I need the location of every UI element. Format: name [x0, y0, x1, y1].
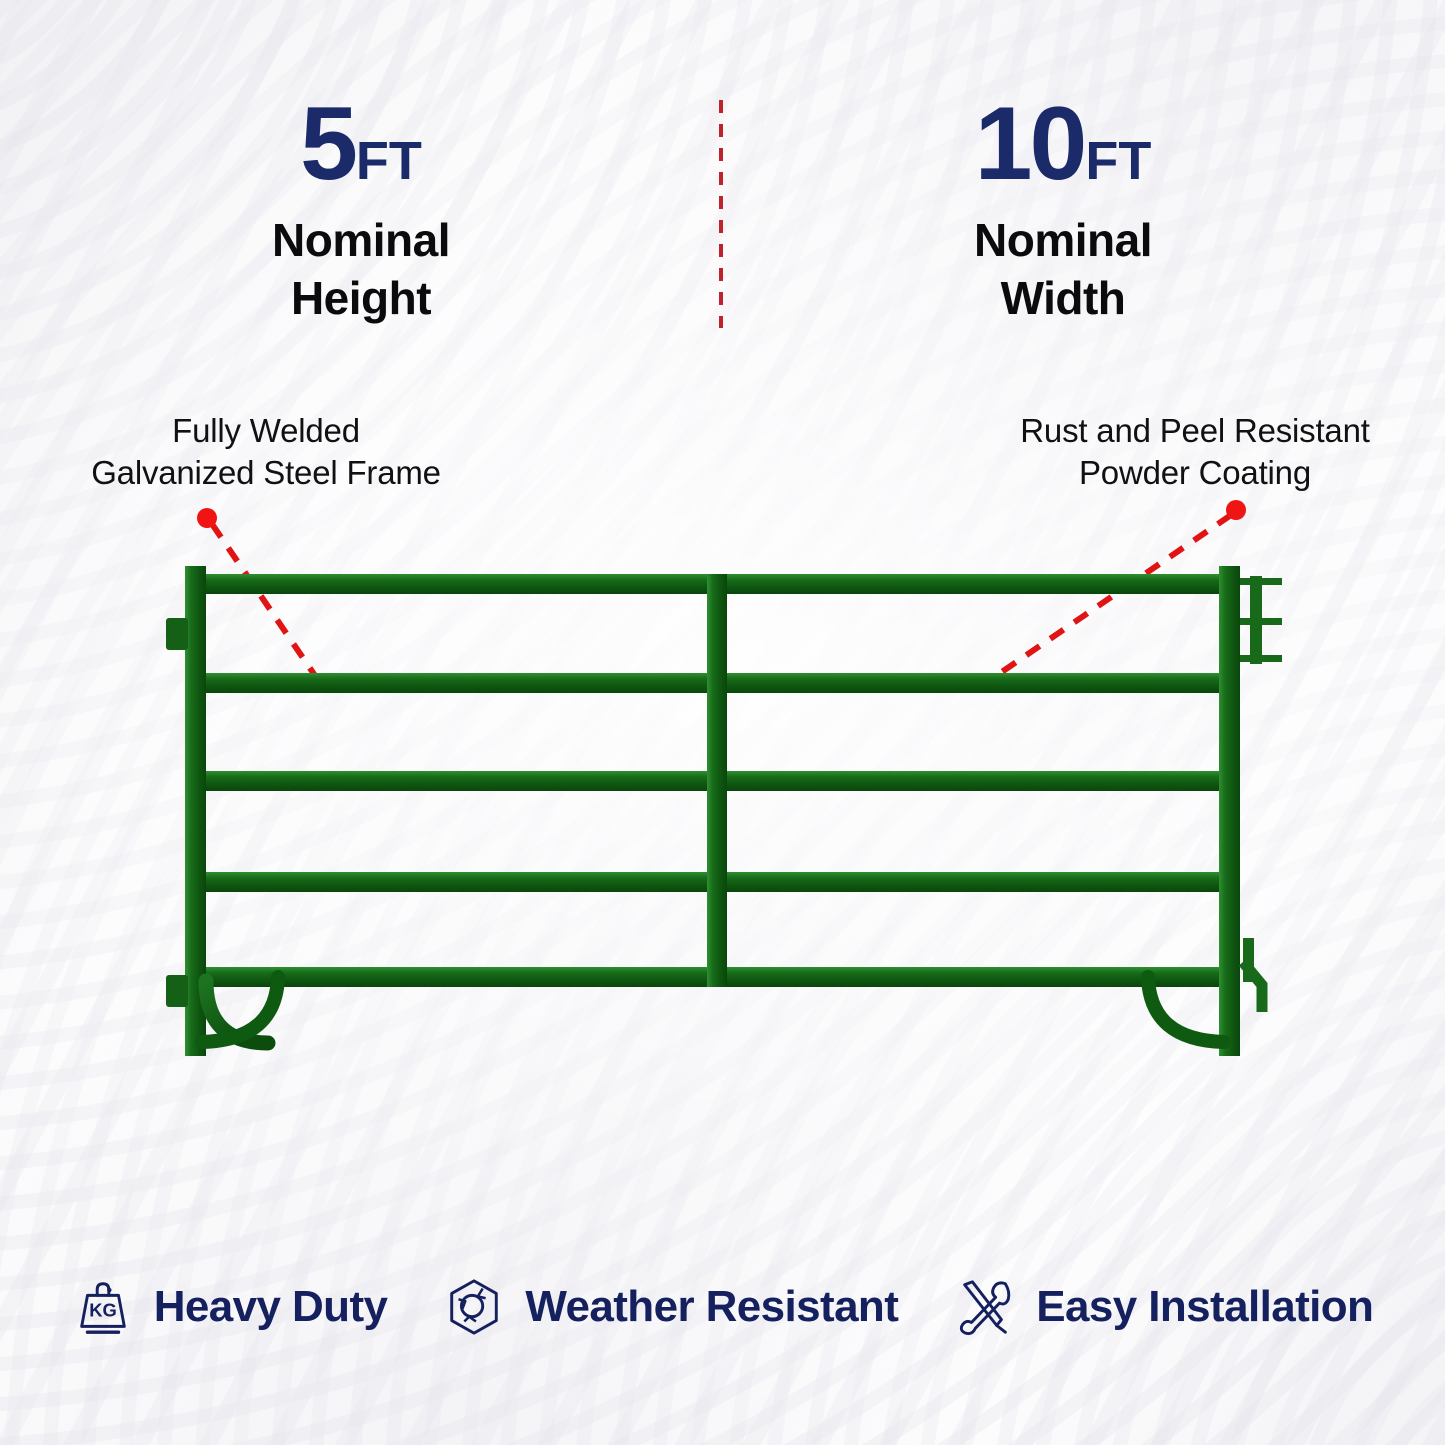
right-hook-latch	[1243, 938, 1262, 1012]
red-dot-marker-right	[1226, 500, 1246, 520]
hex-nut-shield-icon	[443, 1276, 505, 1338]
feature-highlights-row: KG Heavy Duty Weather Resistant	[0, 1252, 1445, 1362]
feature-label-heavy-duty: Heavy Duty	[154, 1285, 388, 1329]
corral-panel-frame	[166, 566, 1282, 1056]
svg-text:KG: KG	[89, 1300, 117, 1321]
kg-weight-icon: KG	[72, 1276, 134, 1338]
right-connector-bracket	[1240, 576, 1282, 664]
feature-item-weather-resistant: Weather Resistant	[415, 1276, 926, 1338]
product-infographic: 5FT Nominal Height 10FT Nominal Width Fu…	[0, 0, 1445, 1445]
feature-item-heavy-duty: KG Heavy Duty	[44, 1276, 416, 1338]
feature-label-weather-resistant: Weather Resistant	[525, 1285, 898, 1329]
left-pin-tab-lower	[166, 975, 188, 1007]
feature-item-easy-installation: Easy Installation	[926, 1276, 1401, 1338]
red-dot-marker-left	[197, 508, 217, 528]
panel-right-post	[1219, 566, 1240, 1056]
left-pin-tab-upper	[166, 618, 188, 650]
screwdriver-wrench-icon	[954, 1276, 1016, 1338]
panel-center-divider	[707, 574, 727, 987]
fence-panel-illustration	[0, 0, 1445, 1445]
feature-label-easy-installation: Easy Installation	[1036, 1285, 1373, 1329]
